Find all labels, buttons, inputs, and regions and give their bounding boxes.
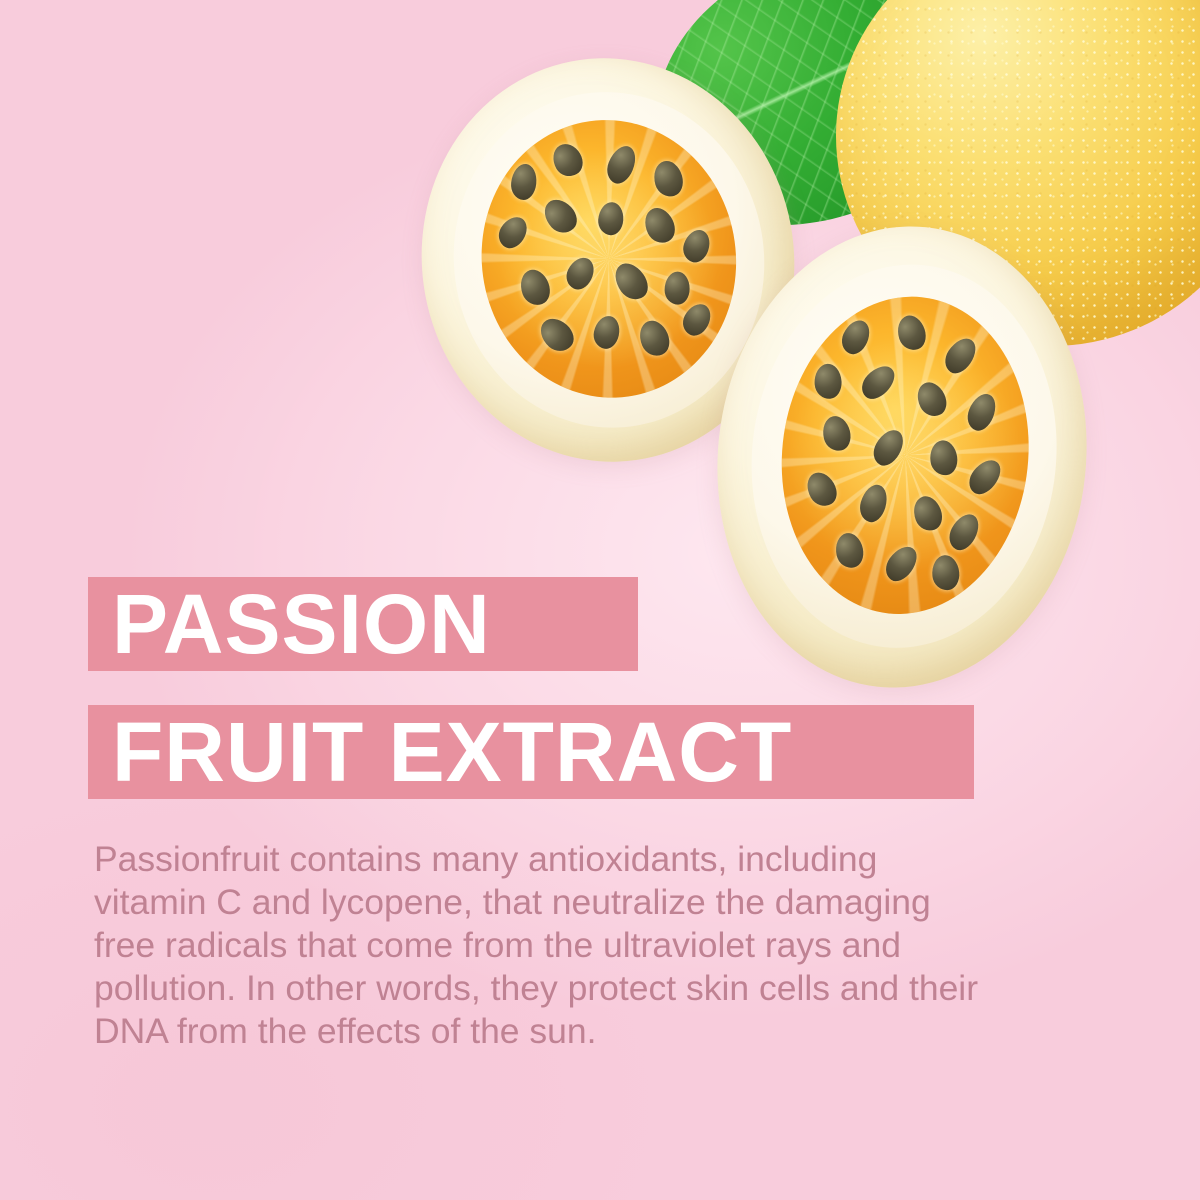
seed xyxy=(869,425,909,470)
seed xyxy=(909,493,946,535)
seed xyxy=(856,481,890,524)
seed xyxy=(813,363,842,400)
seed xyxy=(912,377,952,420)
seed xyxy=(509,163,538,202)
seed xyxy=(963,454,1006,499)
seed xyxy=(590,313,622,351)
seed xyxy=(680,227,714,267)
pulp xyxy=(766,284,1044,626)
seed xyxy=(927,439,959,477)
seed xyxy=(515,266,554,310)
seed xyxy=(678,299,716,340)
seed xyxy=(963,390,1000,435)
seed xyxy=(939,333,981,378)
seed xyxy=(856,360,900,405)
seed xyxy=(538,194,583,239)
seed xyxy=(639,203,680,248)
seed xyxy=(650,158,687,200)
seed xyxy=(602,142,640,188)
body-copy: Passionfruit contains many antioxidants,… xyxy=(94,838,994,1053)
body-paragraph: Passionfruit contains many antioxidants,… xyxy=(94,838,994,1053)
seed xyxy=(493,212,532,254)
seed xyxy=(833,530,867,570)
seed xyxy=(608,257,653,305)
seed xyxy=(820,414,855,454)
seed xyxy=(534,312,580,357)
headline: PASSION FRUIT EXTRACT xyxy=(88,577,974,799)
seed xyxy=(944,509,984,554)
seed xyxy=(801,468,842,512)
seed xyxy=(635,316,675,360)
seed xyxy=(664,272,689,305)
pulp xyxy=(464,104,754,415)
seed xyxy=(597,202,625,237)
headline-line-2: FRUIT EXTRACT xyxy=(88,705,974,799)
seed xyxy=(837,316,874,358)
headline-line-1: PASSION xyxy=(88,577,638,671)
seed xyxy=(894,312,931,354)
seed xyxy=(561,254,598,295)
poster-canvas: PASSION FRUIT EXTRACT Passionfruit conta… xyxy=(0,0,1200,1200)
seed xyxy=(548,139,589,182)
